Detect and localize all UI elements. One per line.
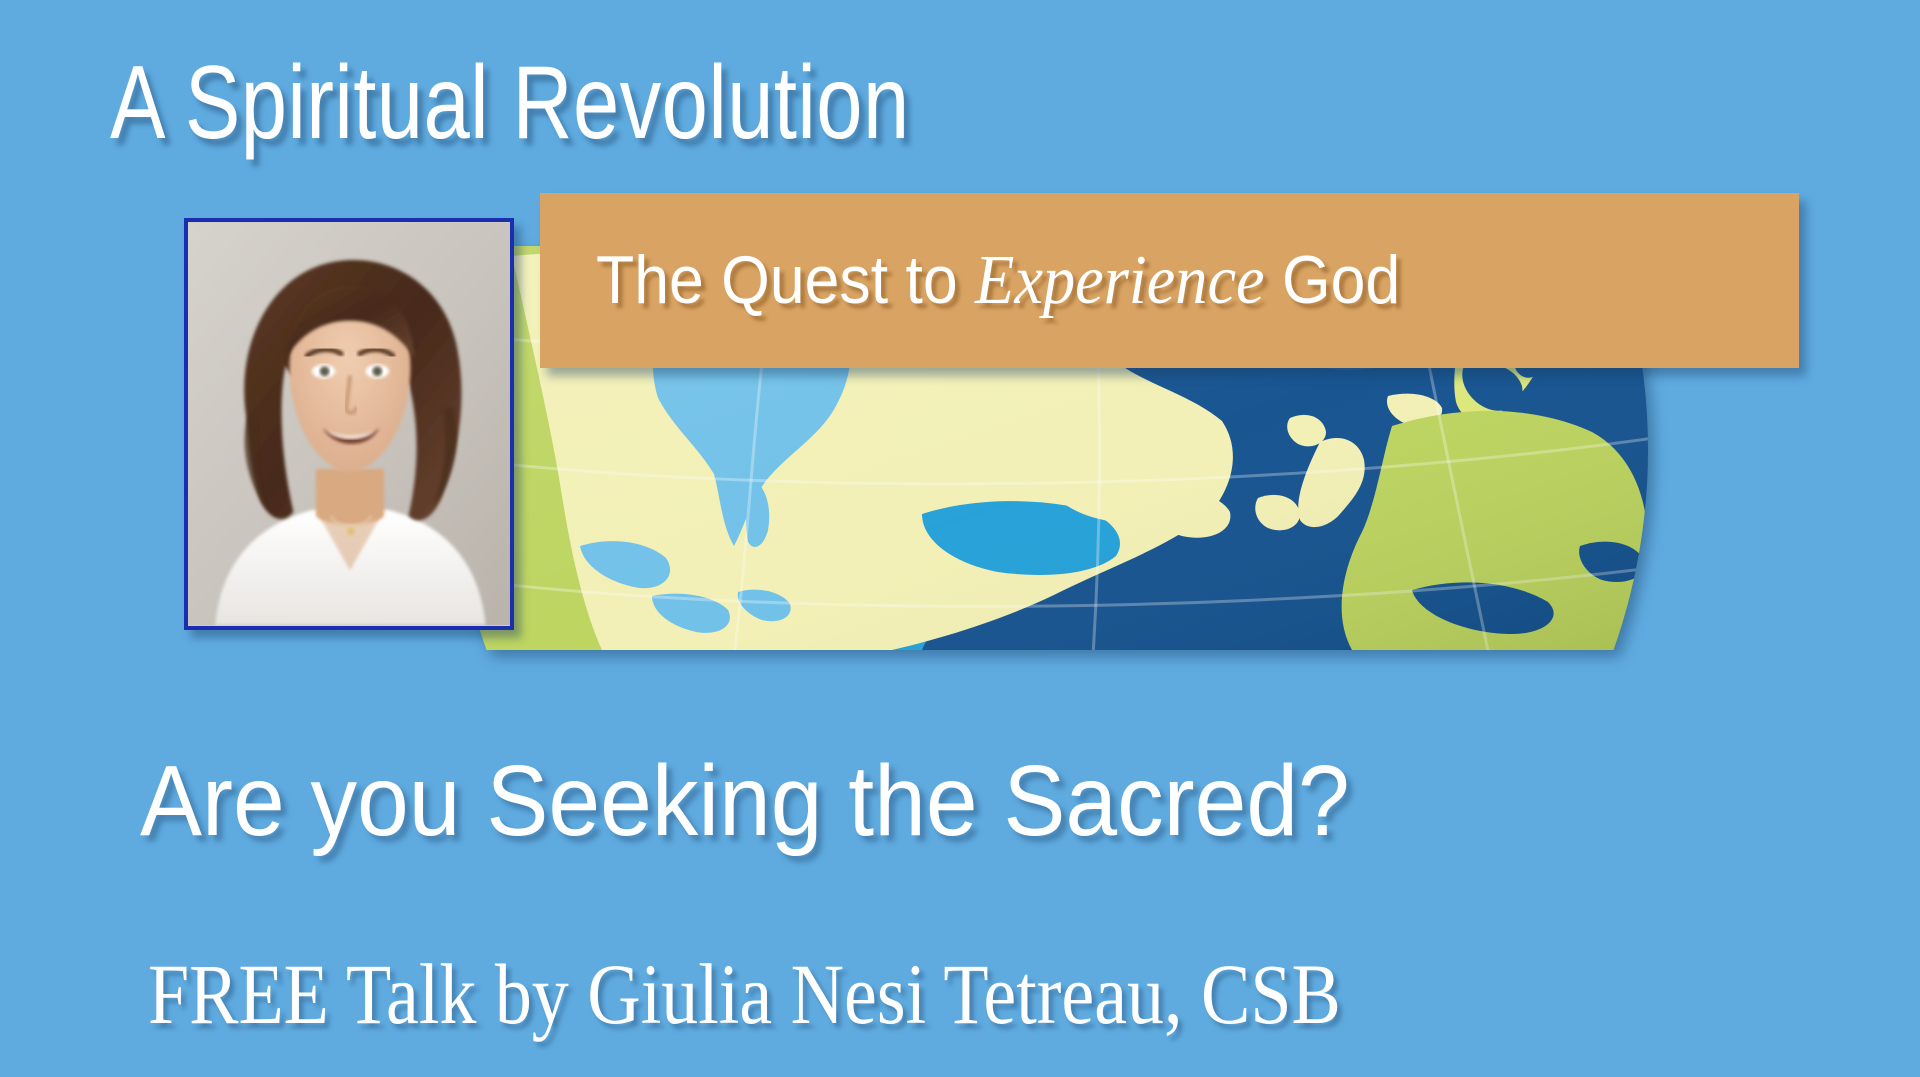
question-headline: Are you Seeking the Sacred?	[140, 744, 1721, 859]
speaker-photo	[184, 218, 514, 630]
subtitle-emphasis: Experience	[975, 242, 1265, 319]
speaker-byline: FREE Talk by Giulia Nesi Tetreau, CSB	[148, 944, 1341, 1044]
subtitle-text: The Quest to Experience God	[596, 241, 1400, 321]
page-title: A Spiritual Revolution	[110, 48, 910, 158]
subtitle-after: God	[1265, 242, 1401, 318]
subtitle-before: The Quest to	[596, 242, 975, 318]
portrait-image	[188, 222, 510, 626]
slide-canvas: A Spiritual Revolution	[0, 0, 1920, 1077]
subtitle-banner: The Quest to Experience God	[540, 193, 1799, 368]
